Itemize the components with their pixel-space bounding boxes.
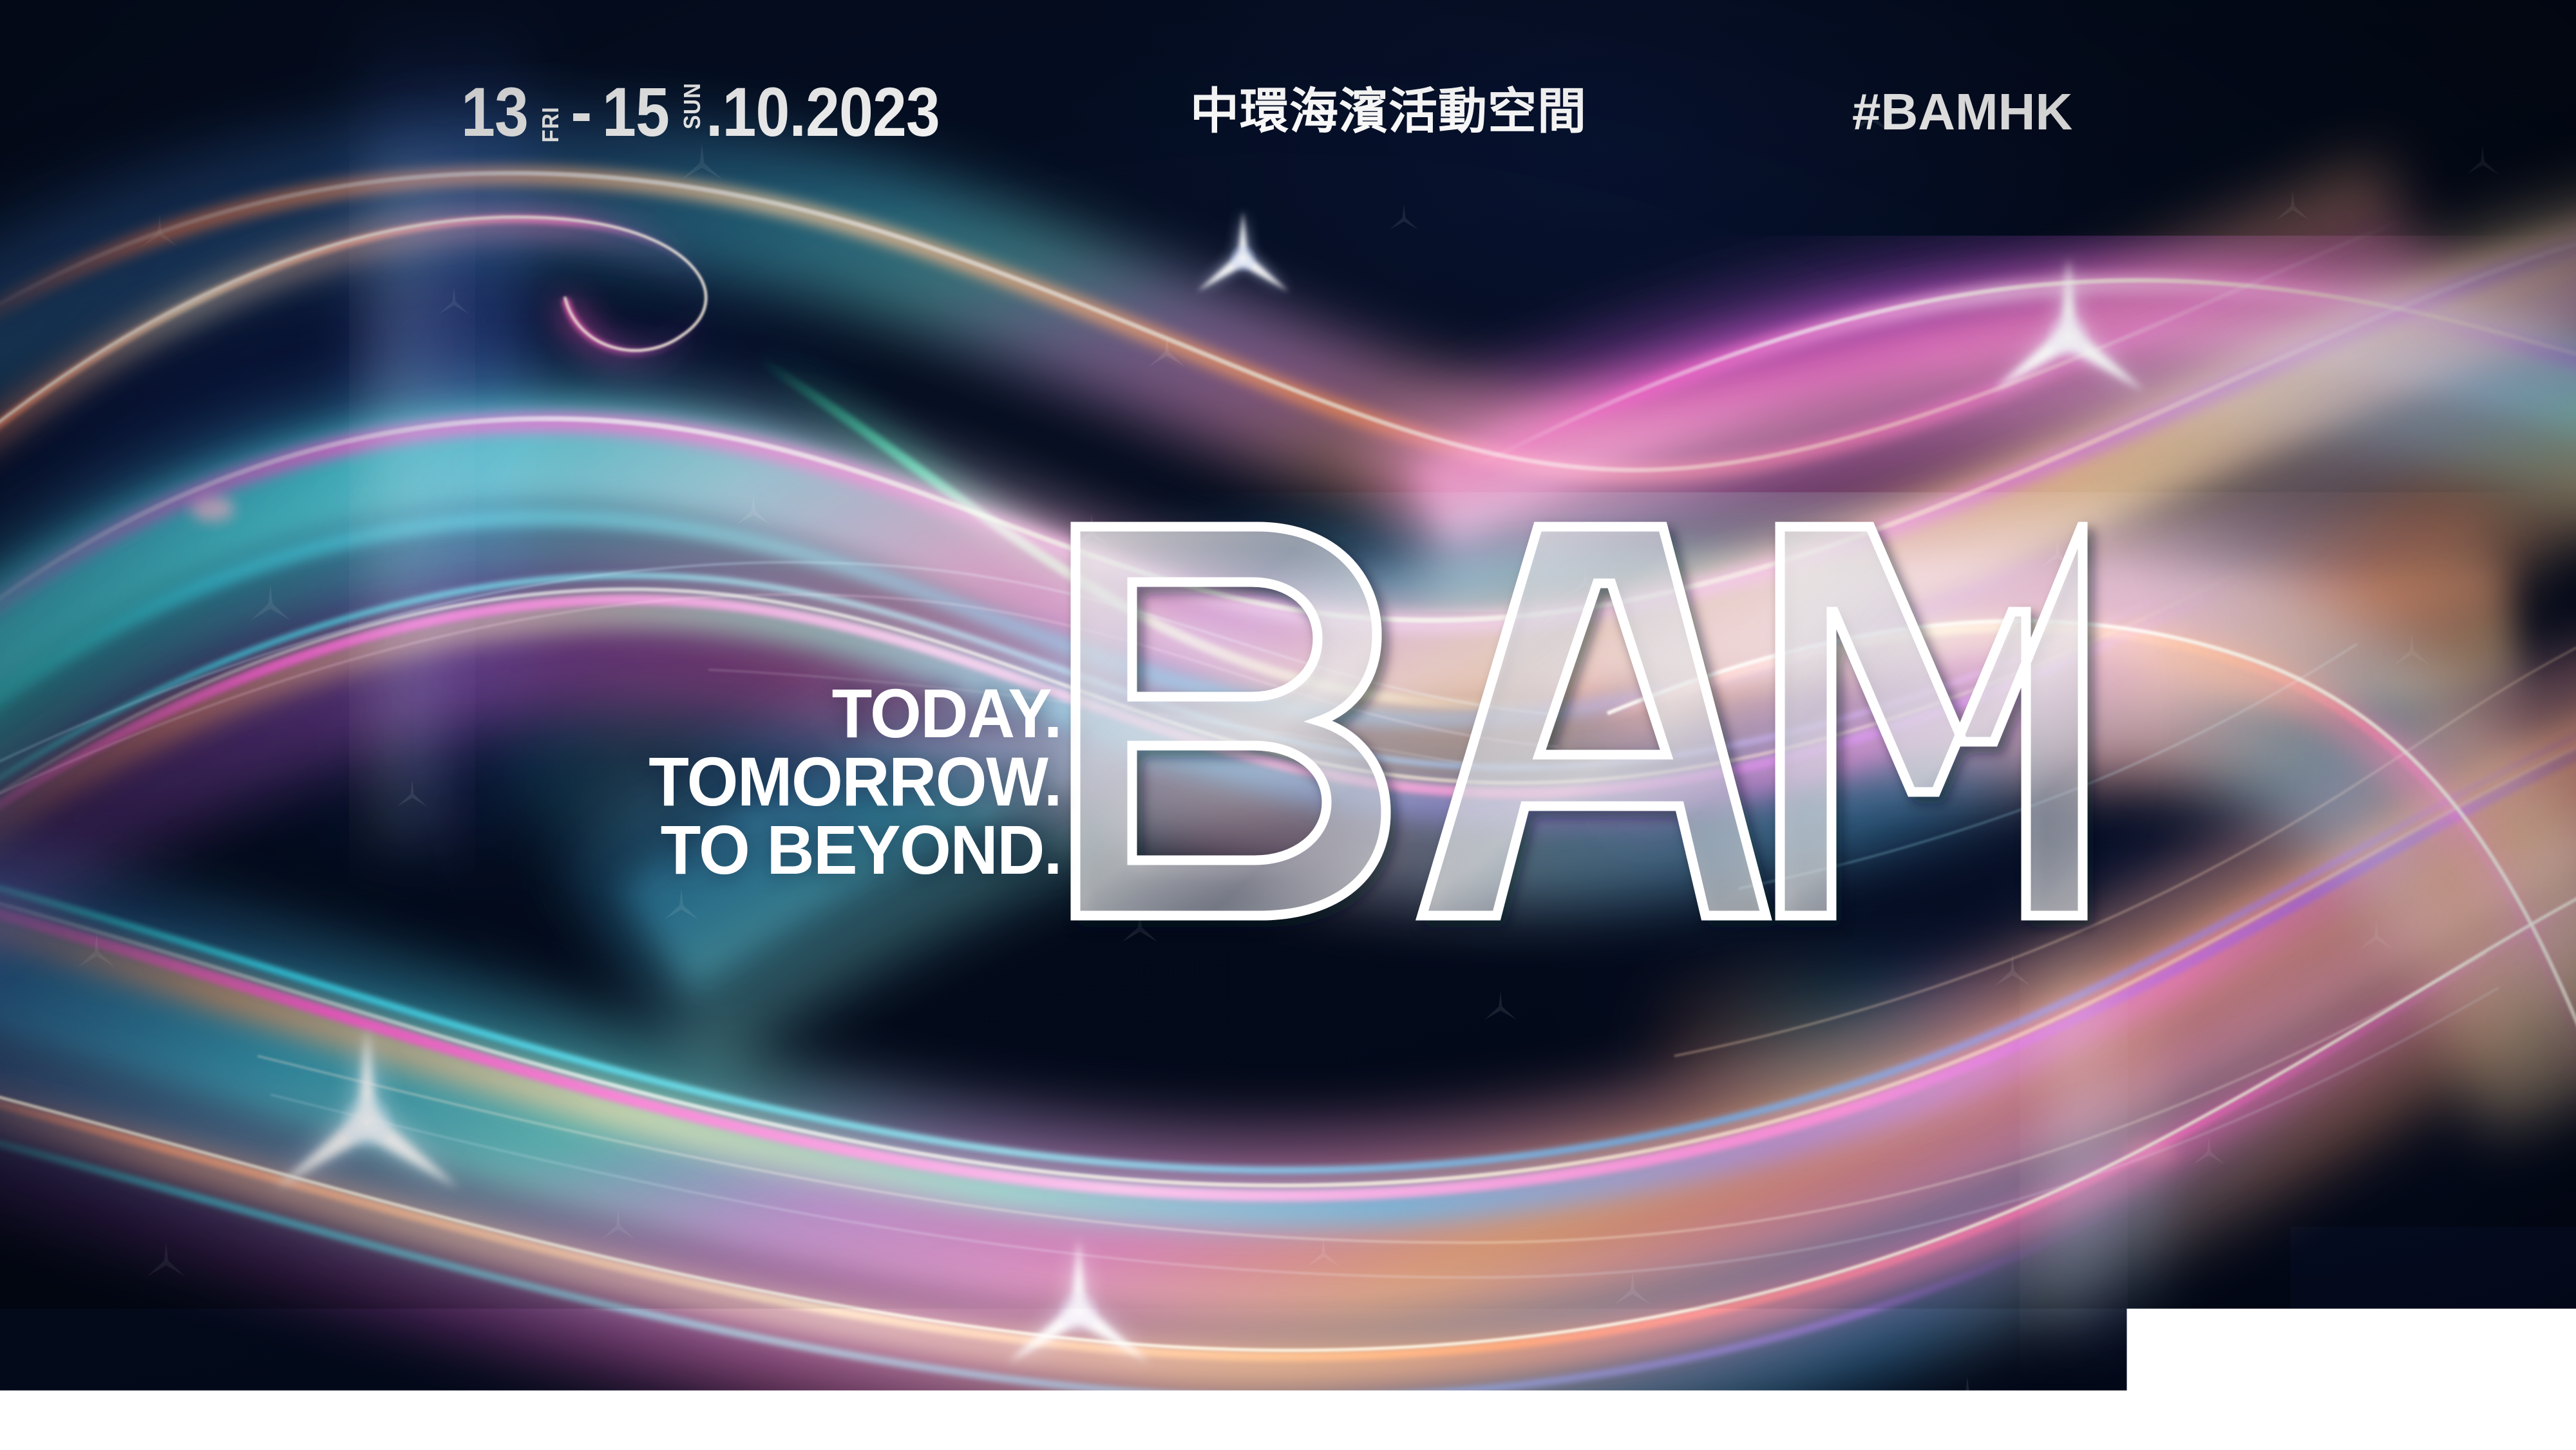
logo-letter-m (1780, 527, 2083, 916)
date-end-weekday: SUN (681, 82, 704, 129)
event-dates: 13 FRI - 15 SUN .10.2023 (461, 77, 971, 147)
date-month-year: .10.2023 (706, 77, 940, 147)
venue-name: 中環海濱活動空間 (1190, 88, 1587, 137)
date-start-day: 13 (461, 77, 528, 147)
date-start-weekday: FRI (539, 106, 562, 142)
date-end-day: 15 (602, 77, 669, 147)
logo-letter-a (1422, 527, 1766, 916)
tagline-line-1: TODAY. (346, 679, 1061, 748)
header-bar: 13 FRI - 15 SUN .10.2023 中環海濱活動空間 #BAMHK (0, 77, 2576, 167)
bam-logo (1064, 515, 2094, 927)
date-separator: - (571, 80, 592, 144)
tagline-line-3: TO BEYOND. (346, 816, 1061, 884)
event-hashtag: #BAMHK (1852, 86, 2072, 138)
event-key-visual-poster: TODAY. TOMORROW. TO BEYOND. 13 FRI - 15 … (0, 0, 2576, 1450)
tagline: TODAY. TOMORROW. TO BEYOND. (309, 679, 1061, 883)
logo-letter-b (1075, 527, 1386, 916)
tagline-line-2: TOMORROW. (346, 748, 1061, 816)
